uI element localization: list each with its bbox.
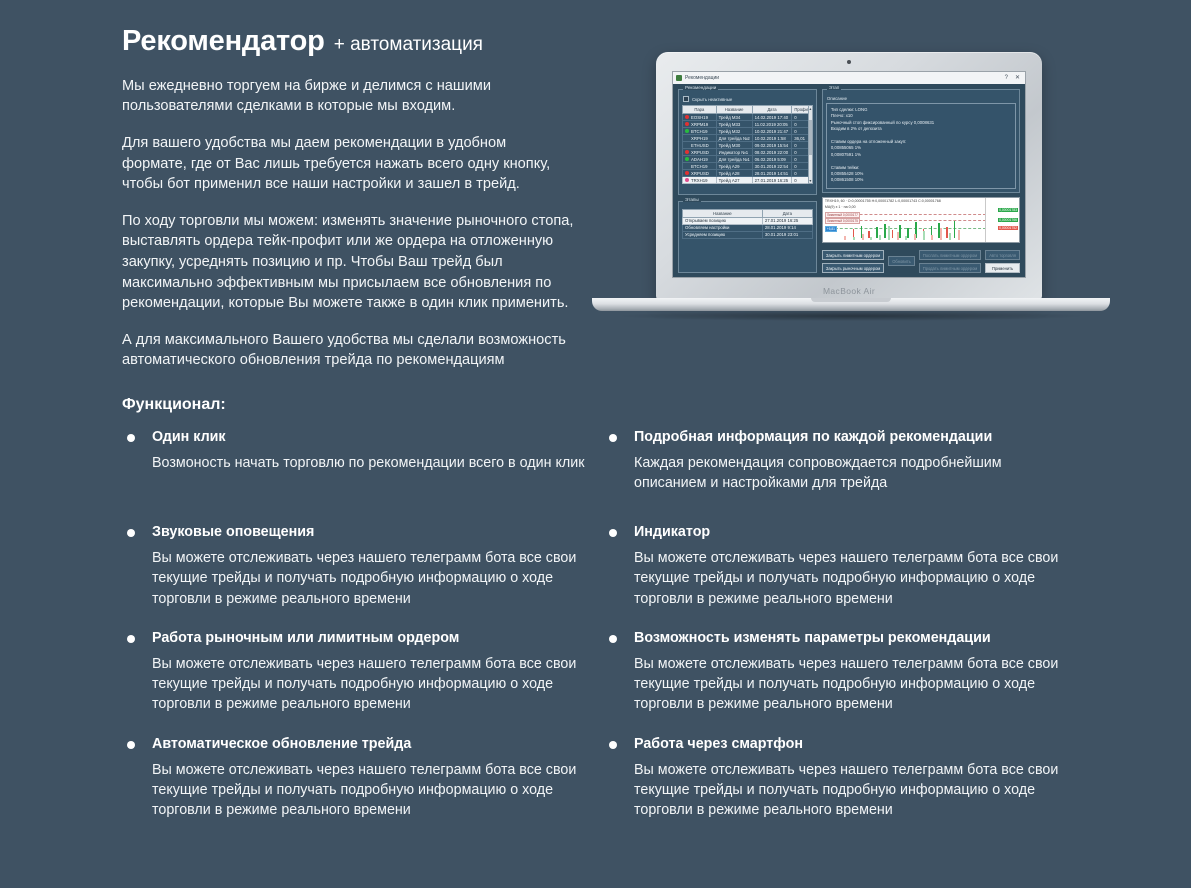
column-header-stage-date: Дата bbox=[762, 209, 812, 217]
table-row[interactable]: XRPH19Для трейда №210.02.2019 1:5836,01 bbox=[683, 135, 813, 142]
table-row[interactable]: XRPM19Трейд М3311.02.2019 20:050 bbox=[683, 121, 813, 128]
bullet-icon bbox=[609, 434, 617, 442]
cell-stage-date: 30.01.2019 23:01 bbox=[762, 231, 812, 238]
left-button-group: Закрыть лимитным ордером Закрыть рыночны… bbox=[822, 250, 884, 273]
cell-pair: ETHUSD bbox=[691, 143, 709, 148]
feature-description: Каждая рекомендация сопровождается подро… bbox=[634, 453, 1076, 494]
column-header-name: Название bbox=[716, 106, 752, 114]
cell-name: Трейд А29 bbox=[716, 163, 752, 170]
status-dot-icon bbox=[685, 143, 689, 147]
column-header-date: Дата bbox=[752, 106, 792, 114]
laptop-lid: Рекомендации ? ✕ Рекомендации Скрыть неа… bbox=[656, 52, 1042, 300]
page-title-main: Рекомендатор bbox=[122, 26, 325, 58]
stage-panel-legend: Этап bbox=[827, 85, 841, 90]
bullet-icon bbox=[127, 529, 135, 537]
cell-pair: TRXH19 bbox=[691, 178, 707, 183]
table-row[interactable]: ETHUSDТрейд М3009.02.2019 15:540 bbox=[683, 142, 813, 149]
recommendations-panel-legend: Рекомендации bbox=[683, 85, 718, 90]
left-column: Рекомендации Скрыть неактивные Пара bbox=[678, 89, 817, 273]
webcam-icon bbox=[847, 60, 851, 64]
chart-price-label: 0,00001783 bbox=[998, 208, 1018, 212]
page-title-sub: + автоматизация bbox=[334, 35, 483, 56]
cell-pair: XRPH19 bbox=[691, 136, 708, 141]
feature-item: Один клик Возмоность начать торговлю по … bbox=[122, 428, 595, 523]
scrollbar-thumb[interactable] bbox=[809, 120, 812, 155]
bullet-icon bbox=[609, 529, 617, 537]
hide-inactive-checkbox[interactable]: Скрыть неактивные bbox=[683, 96, 813, 102]
feature-title: Звуковые оповещения bbox=[152, 523, 595, 541]
app-window-title: Рекомендации bbox=[685, 75, 1000, 81]
table-row[interactable]: Усредняем позицию30.01.2019 23:01 bbox=[683, 231, 813, 238]
laptop-brand-label: MacBook Air bbox=[656, 286, 1042, 296]
table-header-row: Пара Название Дата Профит bbox=[683, 106, 813, 114]
app-icon bbox=[676, 75, 682, 81]
table-row[interactable]: BTCH19Трейд М3210.02.2019 21:470 bbox=[683, 128, 813, 135]
chart-watermark: TRXH19, 60 bbox=[829, 240, 922, 243]
feature-item: Подробная информация по каждой рекоменда… bbox=[604, 428, 1077, 523]
scroll-down-icon[interactable]: ▾ bbox=[809, 178, 812, 183]
feature-description: Вы можете отслеживать через нашего телег… bbox=[152, 548, 594, 609]
feature-title: Возможность изменять параметры рекоменда… bbox=[634, 629, 1077, 647]
stages-panel: Этапы Название Дата Открываем позицию2 bbox=[678, 201, 817, 273]
table-row[interactable]: XRPUSDТрейд А2828.01.2019 14:510 bbox=[683, 170, 813, 177]
cell-name: Трейд М32 bbox=[716, 128, 752, 135]
chart-price-label: 0,00001766 bbox=[998, 218, 1018, 222]
cell-stage-name: Обновляем настройки bbox=[683, 224, 763, 231]
cell-pair: XRPM19 bbox=[691, 122, 708, 127]
recommendations-panel: Рекомендации Скрыть неактивные Пара bbox=[678, 89, 817, 195]
sell-limit-order-button[interactable]: Продать лимитным ордером bbox=[919, 263, 981, 273]
intro-paragraph-4: А для максимального Вашего удобства мы с… bbox=[122, 330, 574, 371]
close-limit-order-button[interactable]: Закрыть лимитным ордером bbox=[822, 250, 884, 260]
status-dot-icon bbox=[685, 178, 689, 182]
status-dot-icon bbox=[685, 157, 689, 161]
cell-name: Трейд А28 bbox=[716, 170, 752, 177]
recommendations-table-wrap: Пара Название Дата Профит EOSH19Трейд М3… bbox=[682, 105, 813, 184]
apply-button-group: Авто торговля Применить bbox=[985, 250, 1020, 273]
table-row[interactable]: EOSH19Трейд М3414.02.2019 17:400 bbox=[683, 114, 813, 121]
status-dot-icon bbox=[685, 136, 689, 140]
feature-description: Вы можете отслеживать через нашего телег… bbox=[152, 654, 594, 715]
intro-paragraph-2: Для вашего удобства мы даем рекомендации… bbox=[122, 133, 574, 195]
feature-title: Работа рыночным или лимитным ордером bbox=[152, 629, 595, 647]
app-titlebar: Рекомендации ? ✕ bbox=[673, 72, 1025, 84]
bullet-icon bbox=[127, 434, 135, 442]
right-column: Этап Описание Тип сделки: LONG Плечо: x1… bbox=[822, 89, 1020, 273]
feature-description: Вы можете отслеживать через нашего телег… bbox=[634, 548, 1076, 609]
feature-title: Один клик bbox=[152, 428, 595, 446]
scroll-up-icon[interactable]: ▴ bbox=[809, 106, 812, 111]
cell-date: 08.02.2019 22:00 bbox=[752, 149, 792, 156]
chart-price-label: 0,00001752 bbox=[998, 226, 1018, 230]
feature-item: Автоматическое обновление трейда Вы може… bbox=[122, 735, 595, 841]
feature-title: Автоматическое обновление трейда bbox=[152, 735, 595, 753]
page-title: Рекомендатор + автоматизация bbox=[122, 26, 582, 58]
cell-date: 28.01.2019 14:51 bbox=[752, 170, 792, 177]
bullet-icon bbox=[609, 635, 617, 643]
cell-stage-date: 28.01.2019 9:14 bbox=[762, 224, 812, 231]
cell-pair: ADAH19 bbox=[691, 157, 708, 162]
column-header-stage-name: Название bbox=[683, 209, 763, 217]
table-row[interactable]: ADAH19Для трейда №106.02.2019 5:090 bbox=[683, 156, 813, 163]
app-body: Рекомендации Скрыть неактивные Пара bbox=[673, 84, 1025, 278]
chart-price-axis: 0,00001783 0,00001766 0,00001752 0,00001… bbox=[985, 198, 1019, 242]
intro-paragraph-3: По ходу торговли мы можем: изменять знач… bbox=[122, 211, 574, 314]
cell-pair: XRPUSD bbox=[691, 150, 709, 155]
feature-item: Индикатор Вы можете отслеживать через на… bbox=[604, 523, 1077, 629]
cell-stage-name: Открываем позицию bbox=[683, 217, 763, 224]
cell-date: 06.02.2019 5:09 bbox=[752, 156, 792, 163]
cell-name: Трейд А27 bbox=[716, 177, 752, 184]
checkbox-icon[interactable] bbox=[683, 96, 689, 102]
cell-pair: EOSH19 bbox=[691, 115, 708, 120]
feature-item: Работа через смартфон Вы можете отслежив… bbox=[604, 735, 1077, 841]
cell-name: Трейд М34 bbox=[716, 114, 752, 121]
hide-inactive-label: Скрыть неактивные bbox=[692, 97, 732, 102]
feature-grid: Один клик Возмоность начать торговлю по … bbox=[122, 428, 1077, 841]
close-market-order-button[interactable]: Закрыть рыночным ордером bbox=[822, 263, 884, 273]
send-button-group: Послать лимитным ордером Продать лимитны… bbox=[919, 250, 981, 273]
close-icon[interactable]: ✕ bbox=[1013, 75, 1022, 81]
status-dot-icon bbox=[685, 150, 689, 154]
cell-name: Для трейда №2 bbox=[716, 135, 752, 142]
bullet-icon bbox=[127, 741, 135, 749]
stages-table: Название Дата Открываем позицию27.01.201… bbox=[682, 209, 813, 239]
landing-page: Рекомендатор + автоматизация Мы ежедневн… bbox=[0, 0, 1191, 888]
cell-name: Индикатор №1 bbox=[716, 149, 752, 156]
auto-trade-button[interactable]: Авто торговля bbox=[985, 250, 1020, 260]
laptop-base bbox=[592, 298, 1110, 311]
feature-description: Вы можете отслеживать через нашего телег… bbox=[634, 654, 1076, 715]
chart-price-label: 0,00001740 bbox=[998, 242, 1018, 243]
cell-name: Трейд М30 bbox=[716, 142, 752, 149]
stages-panel-legend: Этапы bbox=[683, 197, 701, 202]
cell-name: Для трейда №1 bbox=[716, 156, 752, 163]
cell-pair: BTCH19 bbox=[691, 129, 707, 134]
stage-detail-panel: Этап Описание Тип сделки: LONG Плечо: x1… bbox=[822, 89, 1020, 193]
price-chart[interactable]: TRXH19, 60 · O:0,00001755 H:0,00001782 L… bbox=[822, 197, 1020, 243]
table-row[interactable]: BTCH19Трейд А2930.01.2019 22:540 bbox=[683, 163, 813, 170]
status-dot-icon bbox=[685, 122, 689, 126]
volume-series bbox=[839, 218, 984, 240]
cell-pair: XRPUSD bbox=[691, 171, 709, 176]
feature-description: Вы можете отслеживать через нашего телег… bbox=[152, 760, 594, 821]
cell-date: 27.01.2019 16:25 bbox=[752, 177, 792, 184]
apply-button[interactable]: Применить bbox=[985, 263, 1020, 273]
table-row-selected[interactable]: Открываем позицию27.01.2019 16:25 bbox=[683, 217, 813, 224]
cell-stage-name: Усредняем позицию bbox=[683, 231, 763, 238]
status-dot-icon bbox=[685, 115, 689, 119]
table-row-selected[interactable]: TRXH19Трейд А2727.01.2019 16:250 bbox=[683, 177, 813, 184]
action-button-row: Закрыть лимитным ордером Закрыть рыночны… bbox=[822, 250, 1020, 273]
cell-stage-date: 27.01.2019 16:25 bbox=[762, 217, 812, 224]
cell-date: 09.02.2019 15:54 bbox=[752, 142, 792, 149]
cell-date: 14.02.2019 17:40 bbox=[752, 114, 792, 121]
table-row[interactable]: XRPUSDИндикатор №108.02.2019 22:000 bbox=[683, 149, 813, 156]
status-dot-icon bbox=[685, 164, 689, 168]
laptop-shadow bbox=[620, 311, 1082, 321]
stage-description-textarea[interactable]: Тип сделки: LONG Плечо: x10 Рыночный сто… bbox=[826, 103, 1016, 189]
feature-title: Индикатор bbox=[634, 523, 1077, 541]
feature-item: Возможность изменять параметры рекоменда… bbox=[604, 629, 1077, 735]
table-row[interactable]: Обновляем настройки28.01.2019 9:14 bbox=[683, 224, 813, 231]
intro-paragraph-1: Мы ежедневно торгуем на бирже и делимся … bbox=[122, 76, 574, 117]
column-header-pair: Пара bbox=[683, 106, 717, 114]
feature-description: Вы можете отслеживать через нашего телег… bbox=[634, 760, 1076, 821]
cell-date: 11.02.2019 20:05 bbox=[752, 121, 792, 128]
feature-description: Возмоность начать торговлю по рекомендац… bbox=[152, 453, 594, 473]
bullet-icon bbox=[609, 741, 617, 749]
cell-date: 10.02.2019 1:58 bbox=[752, 135, 792, 142]
recommendations-table: Пара Название Дата Профит EOSH19Трейд М3… bbox=[682, 105, 813, 184]
feature-item: Работа рыночным или лимитным ордером Вы … bbox=[122, 629, 595, 735]
laptop-screen: Рекомендации ? ✕ Рекомендации Скрыть неа… bbox=[672, 71, 1026, 278]
functional-heading: Функционал: bbox=[122, 396, 226, 414]
stage-field-label: Описание bbox=[827, 96, 1016, 101]
status-dot-icon bbox=[685, 129, 689, 133]
cell-date: 10.02.2019 21:47 bbox=[752, 128, 792, 135]
help-button[interactable]: ? bbox=[1003, 75, 1010, 81]
cell-pair: BTCH19 bbox=[691, 164, 707, 169]
send-limit-order-button[interactable]: Послать лимитным ордером bbox=[919, 250, 981, 260]
feature-title: Подробная информация по каждой рекоменда… bbox=[634, 428, 1077, 446]
refresh-button-group: Обновить bbox=[888, 250, 915, 266]
refresh-button[interactable]: Обновить bbox=[888, 256, 915, 266]
table-header-row: Название Дата bbox=[683, 209, 813, 217]
intro-section: Рекомендатор + автоматизация Мы ежедневн… bbox=[122, 26, 582, 371]
chart-level-chip: +5,81 bbox=[825, 226, 837, 232]
bullet-icon bbox=[127, 635, 135, 643]
laptop-mockup: Рекомендации ? ✕ Рекомендации Скрыть неа… bbox=[586, 30, 1116, 330]
feature-item: Звуковые оповещения Вы можете отслеживат… bbox=[122, 523, 595, 629]
cell-date: 30.01.2019 22:54 bbox=[752, 163, 792, 170]
table-scrollbar[interactable]: ▴ ▾ bbox=[808, 105, 813, 184]
status-dot-icon bbox=[685, 171, 689, 175]
feature-title: Работа через смартфон bbox=[634, 735, 1077, 753]
cell-name: Трейд М33 bbox=[716, 121, 752, 128]
